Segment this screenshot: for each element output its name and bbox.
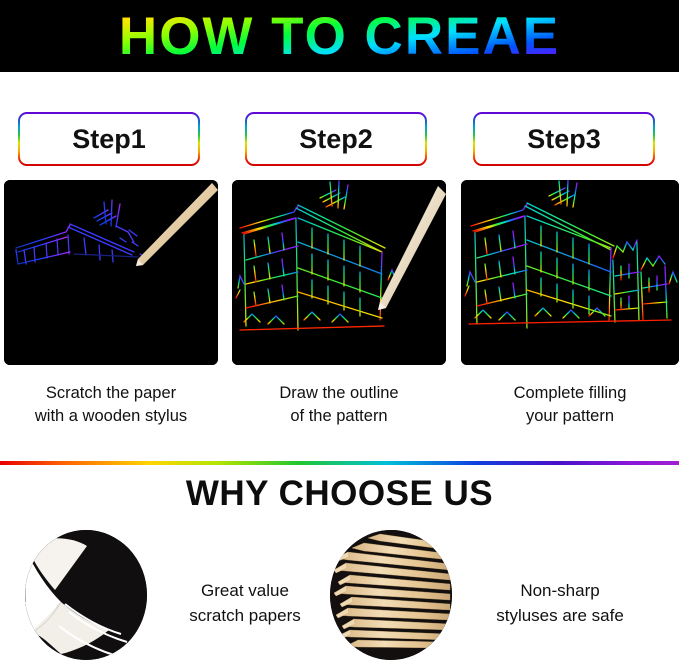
step-caption-1-line2: with a wooden stylus [4, 405, 218, 428]
feature-caption-2-line1: Non-sharp [460, 578, 660, 603]
step-badge-1: Step1 [18, 112, 200, 166]
step-caption-2: Draw the outline of the pattern [232, 382, 446, 428]
page-title: HOW TO CREAE [0, 6, 679, 67]
feature-caption-1-line1: Great value [150, 578, 340, 603]
step-caption-1-line1: Scratch the paper [4, 382, 218, 405]
wooden-styluses-bundle-icon [330, 530, 452, 660]
step-caption-2-line2: of the pattern [232, 405, 446, 428]
step-image-3 [461, 180, 679, 365]
feature-image-1 [25, 530, 147, 660]
why-choose-title: WHY CHOOSE US [0, 474, 679, 514]
step-badge-3: Step3 [473, 112, 655, 166]
feature-caption-1-line2: scratch papers [150, 603, 340, 628]
feature-caption-1: Great value scratch papers [150, 578, 340, 628]
rainbow-divider [0, 461, 679, 465]
scratch-board-building-outline-icon [232, 180, 446, 365]
feature-caption-2-line2: styluses are safe [460, 603, 660, 628]
step-image-2 [232, 180, 446, 365]
product-infographic: HOW TO CREAE Step1 [0, 0, 679, 665]
step-badge-label-2: Step2 [299, 124, 373, 155]
step-caption-3-line2: your pattern [461, 405, 679, 428]
feature-image-2 [330, 530, 452, 660]
header-banner: HOW TO CREAE [0, 0, 679, 72]
step-badge-label-3: Step3 [527, 124, 601, 155]
feature-caption-2: Non-sharp styluses are safe [460, 578, 660, 628]
step-caption-1: Scratch the paper with a wooden stylus [4, 382, 218, 428]
step-badge-label-1: Step1 [72, 124, 146, 155]
scratch-board-partial-outline-icon [4, 180, 218, 365]
step-caption-2-line1: Draw the outline [232, 382, 446, 405]
step-caption-3-line1: Complete filling [461, 382, 679, 405]
curled-white-paper-sheets-icon [25, 530, 147, 660]
scratch-board-building-complete-icon [461, 180, 679, 365]
step-caption-3: Complete filling your pattern [461, 382, 679, 428]
step-badge-2: Step2 [245, 112, 427, 166]
step-image-1 [4, 180, 218, 365]
